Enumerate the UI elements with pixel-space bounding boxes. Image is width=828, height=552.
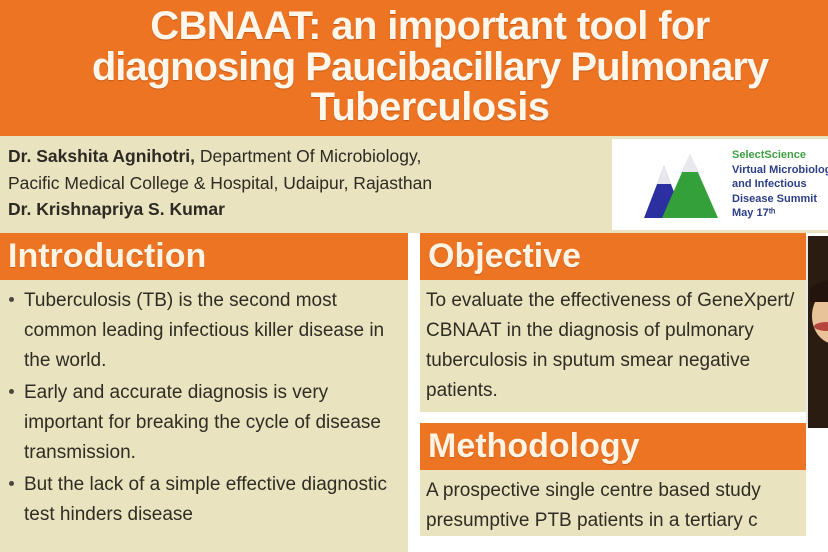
author-secondary-name: Dr. Krishnapriya S. Kumar bbox=[8, 196, 608, 223]
author-department: Department Of Microbiology, bbox=[195, 146, 421, 166]
introduction-body: Tuberculosis (TB) is the second most com… bbox=[0, 280, 408, 532]
objective-heading: Objective bbox=[420, 233, 806, 280]
poster-title-line-3: Tuberculosis bbox=[92, 87, 768, 128]
logo-sub-line-2: and Infectious bbox=[732, 177, 828, 192]
methodology-section: Methodology A prospective single centre … bbox=[420, 423, 806, 536]
logo-brand: SelectScience bbox=[732, 148, 828, 163]
poster-title: CBNAAT: an important tool for diagnosing… bbox=[92, 6, 768, 128]
poster-body: Introduction Tuberculosis (TB) is the se… bbox=[0, 233, 828, 552]
column-right: Objective To evaluate the effectiveness … bbox=[420, 233, 806, 552]
presenter-video-panel[interactable] bbox=[806, 236, 828, 428]
logo-wordmark: SelectScience Virtual Microbiology and I… bbox=[732, 148, 828, 221]
introduction-heading: Introduction bbox=[0, 233, 408, 280]
author-band: Dr. Sakshita Agnihotri, Department Of Mi… bbox=[0, 134, 828, 233]
column-divider bbox=[408, 233, 420, 552]
logo-sub-line-1: Virtual Microbiology bbox=[732, 163, 828, 178]
list-item: Early and accurate diagnosis is very imp… bbox=[6, 378, 402, 468]
methodology-line-2: presumptive PTB patients in a tertiary c bbox=[426, 506, 800, 536]
introduction-bullet-list: Tuberculosis (TB) is the second most com… bbox=[6, 286, 402, 530]
objective-section: Objective To evaluate the effectiveness … bbox=[420, 233, 806, 412]
mountains-icon bbox=[618, 146, 726, 224]
author-primary-name: Dr. Sakshita Agnihotri, bbox=[8, 146, 195, 166]
poster-canvas: CBNAAT: an important tool for diagnosing… bbox=[0, 0, 828, 552]
presenter-hair bbox=[810, 280, 828, 302]
author-line-1: Dr. Sakshita Agnihotri, Department Of Mi… bbox=[8, 143, 608, 170]
column-left: Introduction Tuberculosis (TB) is the se… bbox=[0, 233, 408, 552]
poster-title-banner: CBNAAT: an important tool for diagnosing… bbox=[0, 0, 828, 134]
logo-sub-line-3: Disease Summit bbox=[732, 192, 828, 207]
poster-title-line-1: CBNAAT: an important tool for bbox=[92, 6, 768, 47]
methodology-line-1: A prospective single centre based study bbox=[426, 476, 800, 506]
section-gap bbox=[420, 412, 806, 423]
author-block: Dr. Sakshita Agnihotri, Department Of Mi… bbox=[0, 136, 608, 233]
list-item: But the lack of a simple effective diagn… bbox=[6, 470, 402, 530]
conference-logo: SelectScience Virtual Microbiology and I… bbox=[612, 139, 828, 230]
poster-title-line-2: diagnosing Paucibacillary Pulmonary bbox=[92, 47, 768, 88]
logo-date: May 17ᵗʰ bbox=[732, 206, 828, 221]
methodology-body: A prospective single centre based study … bbox=[420, 470, 806, 536]
author-institution: Pacific Medical College & Hospital, Udai… bbox=[8, 170, 608, 197]
objective-body: To evaluate the effectiveness of GeneXpe… bbox=[420, 280, 806, 412]
list-item: Tuberculosis (TB) is the second most com… bbox=[6, 286, 402, 376]
methodology-heading: Methodology bbox=[420, 423, 806, 470]
